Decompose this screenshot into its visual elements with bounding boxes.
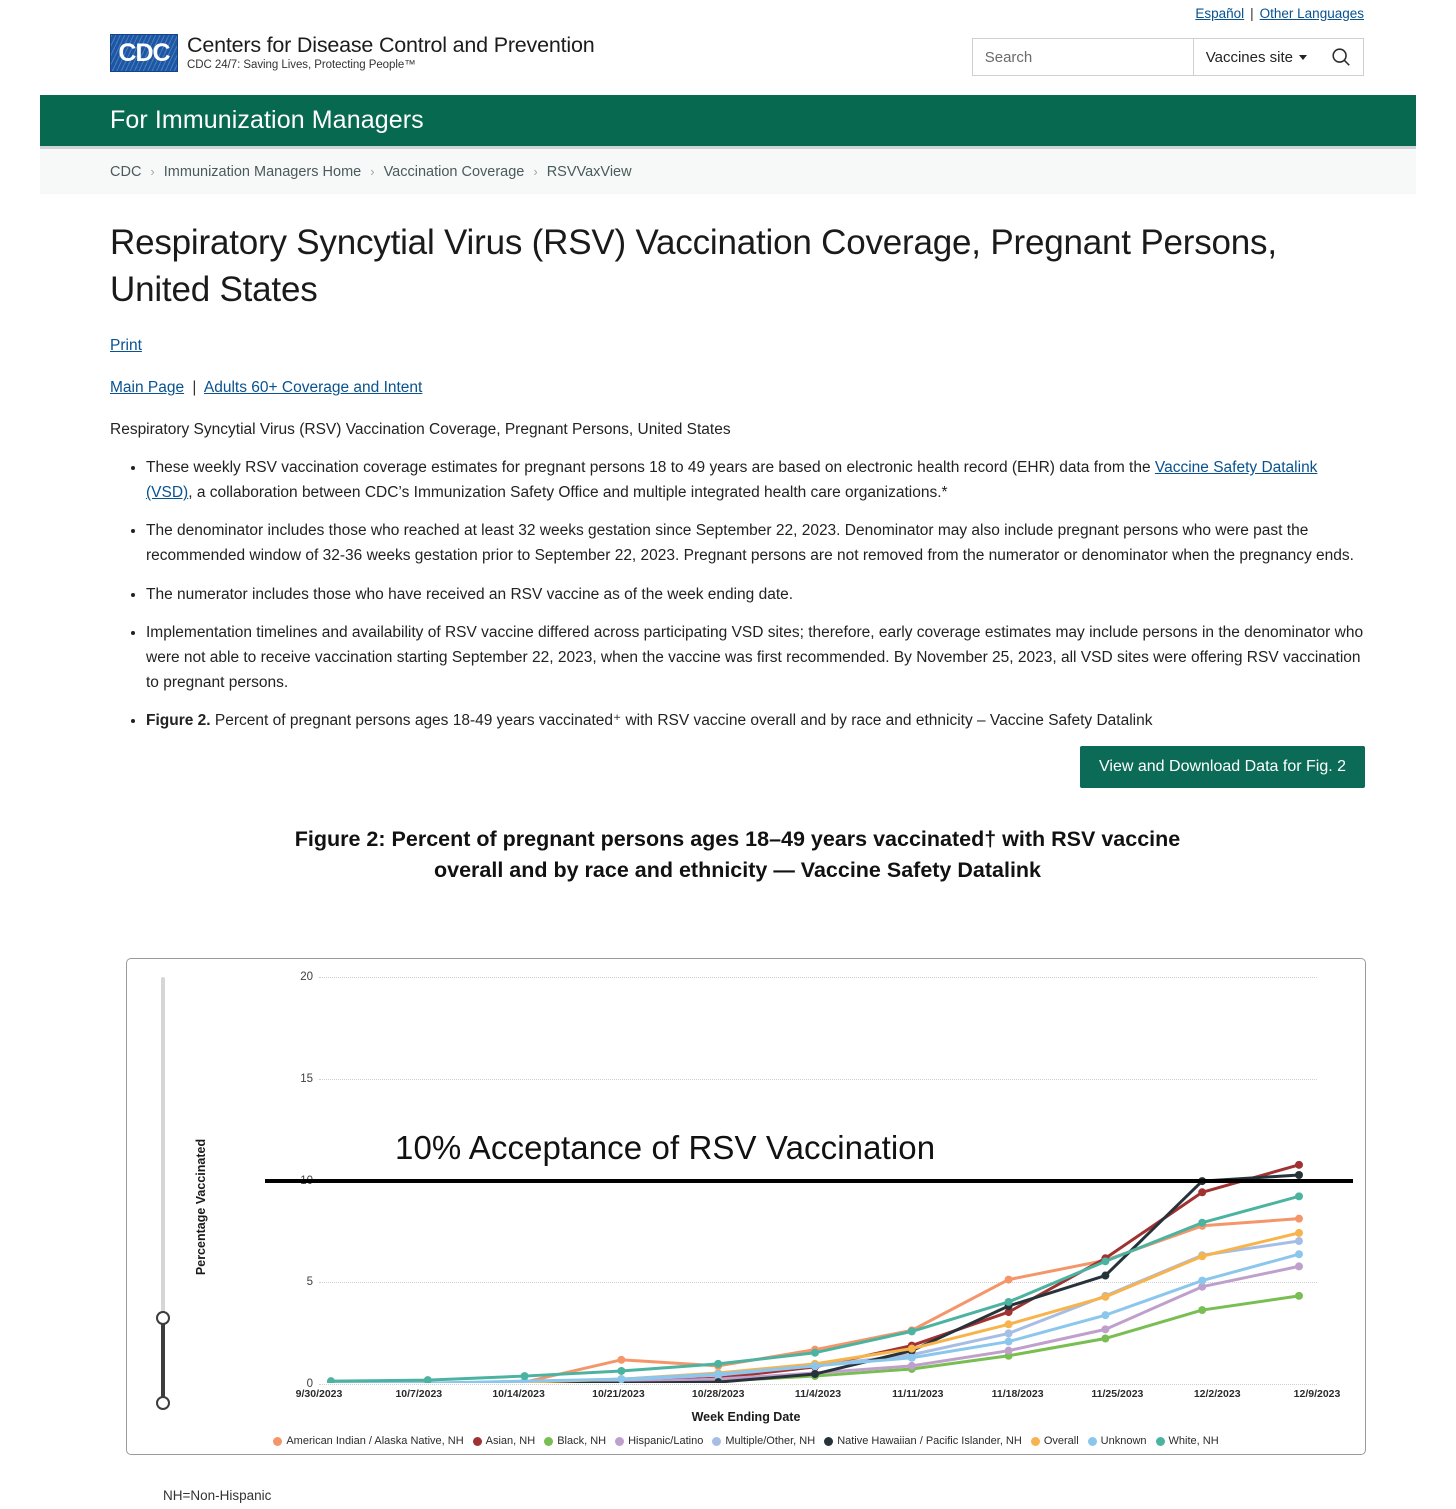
legend-label: American Indian / Alaska Native, NH <box>286 1435 463 1447</box>
legend-color-swatch <box>1088 1437 1097 1446</box>
chart-container: Percentage Vaccinated 05101520 10% Accep… <box>126 958 1366 1455</box>
legend-label: Unknown <box>1101 1435 1147 1447</box>
other-languages-link[interactable]: Other Languages <box>1260 6 1364 21</box>
series-point[interactable] <box>617 1356 625 1364</box>
legend-label: Overall <box>1044 1435 1079 1447</box>
chart-x-tick-label: 10/14/2023 <box>492 1388 545 1400</box>
series-point[interactable] <box>1198 1252 1206 1260</box>
threshold-line-10pct <box>265 1179 1353 1183</box>
chart-inner: Percentage Vaccinated 05101520 10% Accep… <box>127 959 1365 1454</box>
legend-item[interactable]: Native Hawaiian / Pacific Islander, NH <box>824 1435 1022 1447</box>
utility-separator: | <box>1250 6 1254 21</box>
breadcrumb-item-cdc[interactable]: CDC <box>110 164 141 180</box>
chevron-right-icon: › <box>533 164 537 179</box>
search-scope-dropdown[interactable]: Vaccines site <box>1193 39 1319 75</box>
series-point[interactable] <box>617 1375 625 1383</box>
series-point[interactable] <box>1005 1347 1013 1355</box>
series-point[interactable] <box>1101 1257 1109 1265</box>
series-point[interactable] <box>714 1360 722 1368</box>
series-point[interactable] <box>1101 1272 1109 1280</box>
figure-bullet-label: Figure 2. <box>146 712 211 729</box>
series-point[interactable] <box>1295 1192 1303 1200</box>
legend-item[interactable]: Unknown <box>1088 1435 1147 1447</box>
chart-x-tick-label: 12/2/2023 <box>1194 1388 1241 1400</box>
legend-color-swatch <box>273 1437 282 1446</box>
figure-title-line2: overall and by race and ethnicity — Vacc… <box>230 855 1245 886</box>
chart-y-tick-label: 20 <box>281 971 313 983</box>
chart-x-tick-label: 10/28/2023 <box>692 1388 745 1400</box>
slider-handle-upper[interactable] <box>156 1311 170 1325</box>
utility-bar: Español | Other Languages <box>0 0 1456 26</box>
series-point[interactable] <box>908 1345 916 1353</box>
series-point[interactable] <box>1005 1320 1013 1328</box>
legend-color-swatch <box>473 1437 482 1446</box>
info-bullet-list: These weekly RSV vaccination coverage es… <box>110 455 1365 733</box>
print-link[interactable]: Print <box>110 337 1365 355</box>
cdc-logo-title: Centers for Disease Control and Preventi… <box>187 34 594 57</box>
series-point[interactable] <box>1295 1161 1303 1169</box>
chevron-down-icon <box>1299 55 1307 60</box>
legend-item[interactable]: American Indian / Alaska Native, NH <box>273 1435 463 1447</box>
download-button-row: View and Download Data for Fig. 2 <box>110 746 1365 788</box>
nav-link-separator: | <box>192 379 196 396</box>
series-point[interactable] <box>1198 1188 1206 1196</box>
legend-color-swatch <box>824 1437 833 1446</box>
chart-x-tick-label: 11/4/2023 <box>795 1388 841 1400</box>
intro-line: Respiratory Syncytial Virus (RSV) Vaccin… <box>110 421 1365 439</box>
series-point[interactable] <box>521 1372 529 1380</box>
search-input[interactable] <box>973 39 1193 75</box>
chart-gridline <box>319 1384 1317 1385</box>
chart-footnote: NH=Non-Hispanic <box>163 1488 271 1503</box>
list-item: Implementation timelines and availabilit… <box>146 620 1365 695</box>
page-title: Respiratory Syncytial Virus (RSV) Vaccin… <box>110 220 1365 313</box>
series-point[interactable] <box>1101 1325 1109 1333</box>
series-point[interactable] <box>1198 1277 1206 1285</box>
legend-label: Black, NH <box>557 1435 606 1447</box>
legend-item[interactable]: Overall <box>1031 1435 1079 1447</box>
series-point[interactable] <box>714 1370 722 1378</box>
legend-label: Native Hawaiian / Pacific Islander, NH <box>837 1435 1022 1447</box>
series-point[interactable] <box>1005 1329 1013 1337</box>
legend-item[interactable]: Asian, NH <box>473 1435 536 1447</box>
figure-bullet-text: Percent of pregnant persons ages 18-49 y… <box>211 712 1153 729</box>
list-item: The numerator includes those who have re… <box>146 582 1365 607</box>
search-button[interactable] <box>1319 39 1363 75</box>
legend-label: Multiple/Other, NH <box>725 1435 815 1447</box>
chart-x-axis-ticks: 9/30/202310/7/202310/14/202310/21/202310… <box>319 1388 1317 1404</box>
legend-label: White, NH <box>1169 1435 1219 1447</box>
series-point[interactable] <box>1198 1219 1206 1227</box>
chart-x-tick-label: 10/21/2023 <box>592 1388 645 1400</box>
bullet-text-pre: These weekly RSV vaccination coverage es… <box>146 459 1155 476</box>
legend-color-swatch <box>1156 1437 1165 1446</box>
chart-x-tick-label: 10/7/2023 <box>395 1388 442 1400</box>
series-point[interactable] <box>908 1354 916 1362</box>
search-icon <box>1330 46 1352 68</box>
chevron-right-icon: › <box>150 164 154 179</box>
series-point[interactable] <box>1295 1215 1303 1223</box>
series-point[interactable] <box>908 1327 916 1335</box>
series-point[interactable] <box>1005 1276 1013 1284</box>
cdc-logo-icon: CDC <box>110 34 178 72</box>
chart-x-tick-label: 11/25/2023 <box>1091 1388 1143 1400</box>
series-point[interactable] <box>811 1370 819 1378</box>
list-item: These weekly RSV vaccination coverage es… <box>146 455 1365 505</box>
section-band: For Immunization Managers <box>40 95 1416 146</box>
list-item-figure: Figure 2. Percent of pregnant persons ag… <box>146 708 1365 733</box>
series-point[interactable] <box>1295 1237 1303 1245</box>
breadcrumb-item-vaccination-coverage[interactable]: Vaccination Coverage <box>384 164 525 180</box>
legend-label: Asian, NH <box>486 1435 536 1447</box>
legend-item[interactable]: Black, NH <box>544 1435 606 1447</box>
series-point[interactable] <box>1101 1311 1109 1319</box>
series-point[interactable] <box>1295 1229 1303 1237</box>
legend-color-swatch <box>615 1437 624 1446</box>
chart-y-tick-label: 15 <box>281 1073 313 1085</box>
series-point[interactable] <box>1295 1292 1303 1300</box>
cdc-logo[interactable]: CDC Centers for Disease Control and Prev… <box>110 34 594 72</box>
figure-title: Figure 2: Percent of pregnant persons ag… <box>110 824 1365 885</box>
espanol-link[interactable]: Español <box>1195 6 1244 21</box>
breadcrumb: CDC › Immunization Managers Home › Vacci… <box>40 149 1416 194</box>
chart-y-tick-label: 5 <box>281 1276 313 1288</box>
chart-x-tick-label: 12/9/2023 <box>1294 1388 1341 1400</box>
legend-color-swatch <box>1031 1437 1040 1446</box>
legend-item[interactable]: White, NH <box>1156 1435 1219 1447</box>
series-point[interactable] <box>1005 1338 1013 1346</box>
adults-coverage-link[interactable]: Adults 60+ Coverage and Intent <box>204 379 422 396</box>
site-header: CDC Centers for Disease Control and Prev… <box>0 26 1456 95</box>
threshold-annotation-label: 10% Acceptance of RSV Vaccination <box>395 1129 935 1167</box>
main-page-link[interactable]: Main Page <box>110 379 184 396</box>
series-point[interactable] <box>811 1349 819 1357</box>
figure-title-line1: Figure 2: Percent of pregnant persons ag… <box>230 824 1245 855</box>
series-point[interactable] <box>811 1362 819 1370</box>
chart-x-tick-label: 11/18/2023 <box>992 1388 1044 1400</box>
section-band-title: For Immunization Managers <box>40 106 424 135</box>
slider-handle-lower[interactable] <box>156 1396 170 1410</box>
legend-item[interactable]: Hispanic/Latino <box>615 1435 703 1447</box>
chart-x-tick-label: 9/30/2023 <box>296 1388 343 1400</box>
series-point[interactable] <box>1198 1306 1206 1314</box>
series-point[interactable] <box>1295 1262 1303 1270</box>
series-point[interactable] <box>1005 1298 1013 1306</box>
page-nav-links: Main Page | Adults 60+ Coverage and Inte… <box>110 379 1365 397</box>
series-point[interactable] <box>908 1362 916 1370</box>
series-point[interactable] <box>1101 1293 1109 1301</box>
chart-series-unknown <box>327 1250 1303 1383</box>
chart-series-white-nh <box>327 1192 1303 1383</box>
chart-legend: American Indian / Alaska Native, NHAsian… <box>127 1435 1365 1447</box>
main-content: Respiratory Syncytial Virus (RSV) Vaccin… <box>110 194 1365 885</box>
cdc-logo-mark-text: CDC <box>118 39 169 68</box>
bullet-text-post: , a collaboration between CDC’s Immuniza… <box>188 484 947 501</box>
breadcrumb-item-rsvvaxview[interactable]: RSVVaxView <box>547 164 632 180</box>
legend-color-swatch <box>712 1437 721 1446</box>
view-download-data-button[interactable]: View and Download Data for Fig. 2 <box>1080 746 1365 788</box>
search-group: Vaccines site <box>972 38 1364 76</box>
chart-x-tick-label: 11/11/2023 <box>892 1388 943 1400</box>
chart-x-axis-label: Week Ending Date <box>127 1410 1365 1424</box>
legend-item[interactable]: Multiple/Other, NH <box>712 1435 815 1447</box>
breadcrumb-item-immunization-managers-home[interactable]: Immunization Managers Home <box>164 164 361 180</box>
list-item: The denominator includes those who reach… <box>146 518 1365 568</box>
series-point[interactable] <box>1295 1250 1303 1258</box>
cdc-logo-tagline: CDC 24/7: Saving Lives, Protecting Peopl… <box>187 59 594 71</box>
chevron-right-icon: › <box>370 164 374 179</box>
legend-color-swatch <box>544 1437 553 1446</box>
series-point[interactable] <box>327 1377 335 1383</box>
search-scope-label: Vaccines site <box>1206 49 1293 66</box>
legend-label: Hispanic/Latino <box>628 1435 703 1447</box>
series-point[interactable] <box>1101 1335 1109 1343</box>
series-point[interactable] <box>424 1376 432 1383</box>
series-point[interactable] <box>617 1367 625 1375</box>
y-axis-range-slider[interactable] <box>156 977 170 1403</box>
